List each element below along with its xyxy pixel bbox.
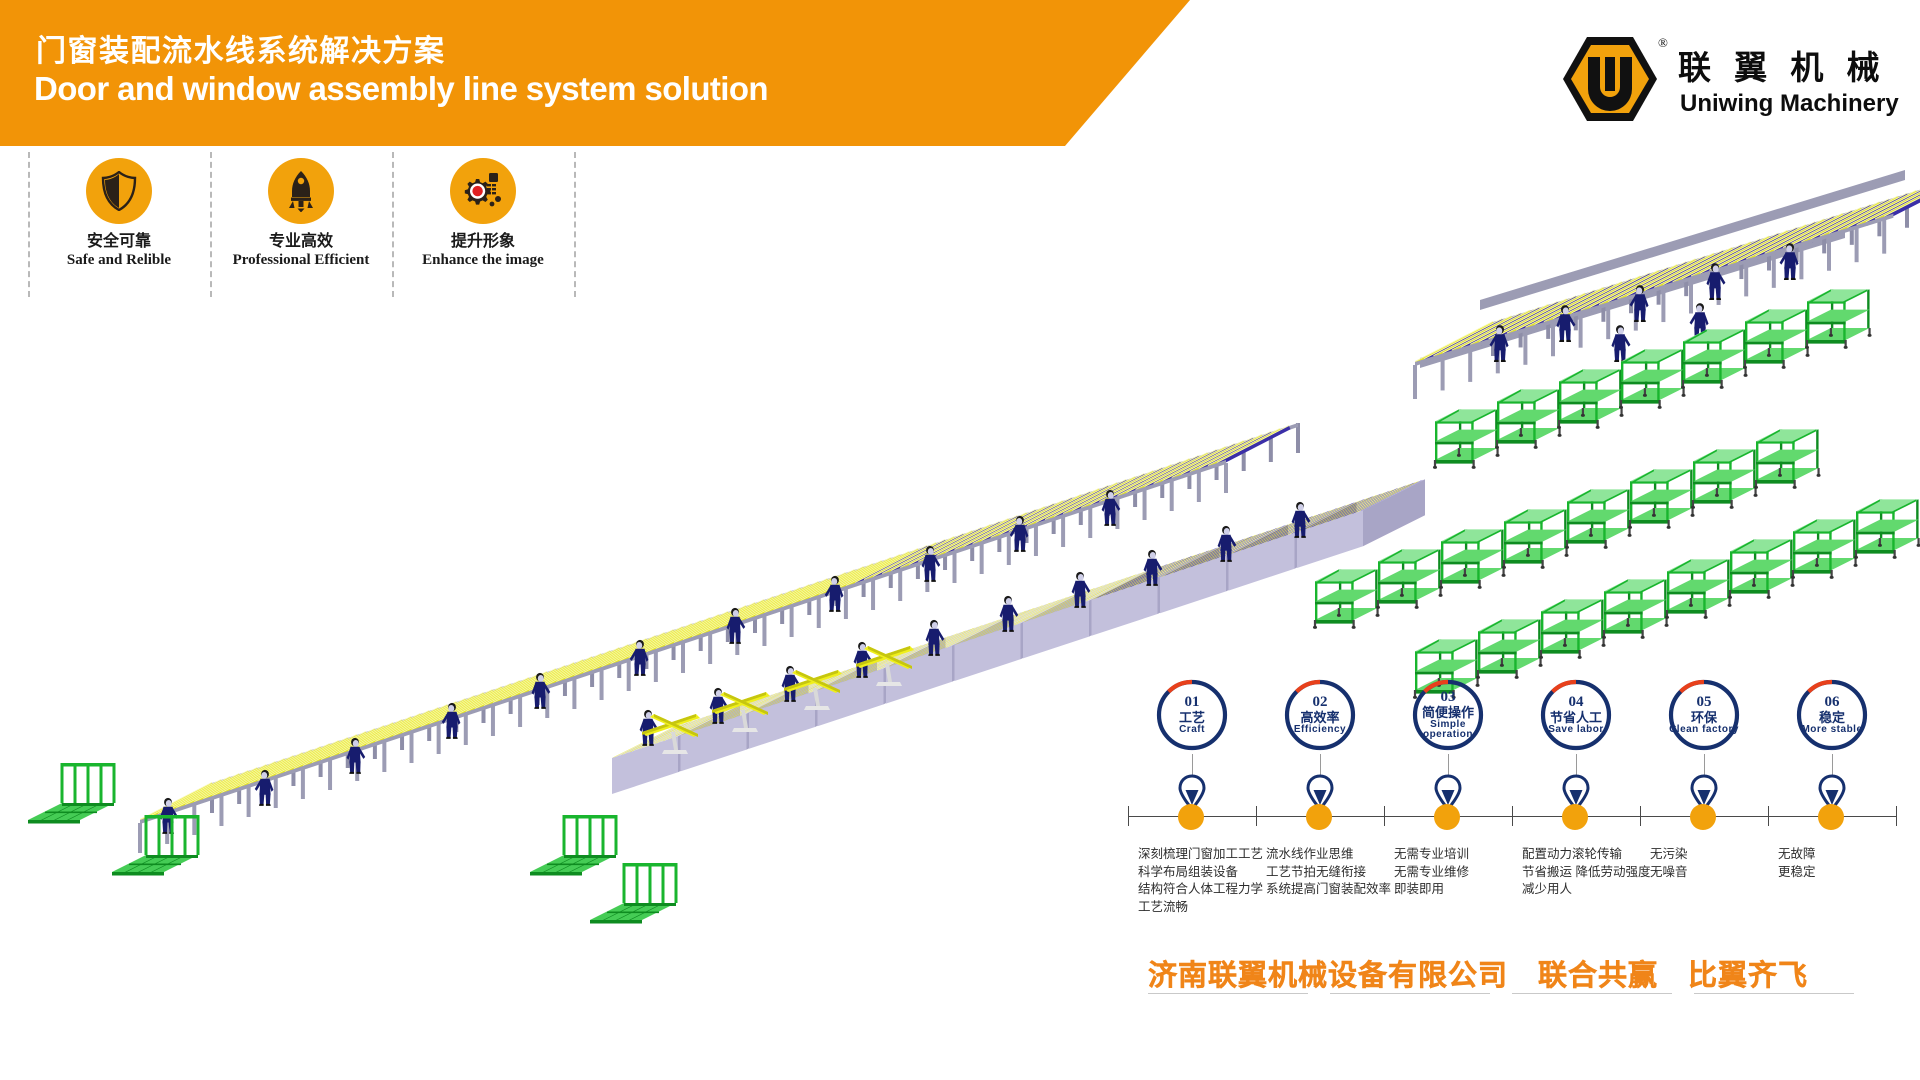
material-cart-row-bottom xyxy=(1728,539,1795,598)
timeline-label-cn: 环保 xyxy=(1691,710,1717,725)
timeline-desc-line: 无需专业维修 xyxy=(1394,864,1469,882)
timeline-label-en: Clean factory xyxy=(1669,725,1739,736)
timeline-tick xyxy=(1896,806,1897,826)
company-slogan: 济南联翼机械设备有限公司 联合共赢 比翼齐飞 xyxy=(1148,952,1908,998)
uniwing-hexagon-u-logo-icon xyxy=(1560,35,1660,123)
timeline-ring-icon: 02 高效率 Efficiency xyxy=(1283,678,1357,752)
timeline-stem xyxy=(1832,754,1833,776)
timeline-desc-line: 工艺流畅 xyxy=(1138,899,1263,917)
material-cart-row-middle xyxy=(1691,449,1758,508)
timeline-ring-icon: 06 稳定 More stable xyxy=(1795,678,1869,752)
slogan-rule xyxy=(1330,993,1490,994)
timeline-number: 01 xyxy=(1185,695,1200,710)
timeline-desc-02: 流水线作业思维工艺节拍无缝衔接系统提高门窗装配效率 xyxy=(1266,846,1391,899)
timeline-tick xyxy=(1640,806,1641,826)
material-cart-row-top xyxy=(1743,309,1810,368)
material-cart-row-top xyxy=(1495,389,1562,448)
timeline-desc-line: 无污染 xyxy=(1650,846,1688,864)
slogan-rule xyxy=(1694,993,1854,994)
worker-figure xyxy=(1611,325,1630,362)
timeline-node-02[interactable]: 02 高效率 Efficiency xyxy=(1260,678,1380,752)
timeline-label-en: Efficiency xyxy=(1294,725,1346,736)
material-cart-row-top xyxy=(1433,409,1500,468)
page-title-en: Door and window assembly line system sol… xyxy=(34,70,768,108)
timeline-desc-line: 科学布局组装设备 xyxy=(1138,864,1263,882)
material-cart-row-middle xyxy=(1313,569,1380,628)
timeline-desc-05: 无污染无噪音 xyxy=(1650,846,1688,881)
loading-rack-left xyxy=(530,815,618,876)
timeline-dot xyxy=(1306,804,1332,830)
timeline-tick xyxy=(1384,806,1385,826)
material-cart-row-bottom xyxy=(1791,519,1858,578)
timeline-number: 06 xyxy=(1825,695,1840,710)
timeline-number: 04 xyxy=(1569,695,1584,710)
timeline-dot xyxy=(1178,804,1204,830)
timeline-tick xyxy=(1256,806,1257,826)
loading-rack-left xyxy=(28,763,116,824)
material-cart-row-middle xyxy=(1754,429,1821,488)
timeline-desc-line: 结构符合人体工程力学 xyxy=(1138,881,1263,899)
timeline-node-03[interactable]: 03 简便操作 Simple operation xyxy=(1388,678,1508,752)
company-slogan-text: 济南联翼机械设备有限公司 联合共赢 比翼齐飞 xyxy=(1148,952,1808,994)
logo-name-cn: 联 翼 机 械 xyxy=(1678,41,1887,89)
material-cart-row-middle xyxy=(1439,529,1506,588)
timeline-desc-line: 节省搬运 降低劳动强度 xyxy=(1522,864,1650,882)
logo-name-en: Uniwing Machinery xyxy=(1680,90,1899,118)
timeline-dot xyxy=(1434,804,1460,830)
timeline-ring-icon: 05 环保 Clean factory xyxy=(1667,678,1741,752)
timeline-desc-06: 无故障更稳定 xyxy=(1778,846,1816,881)
timeline-desc-line: 流水线作业思维 xyxy=(1266,846,1391,864)
timeline-dot xyxy=(1562,804,1588,830)
slogan-rule xyxy=(1148,993,1308,994)
poster-page: 门窗装配流水线系统解决方案 Door and window assembly l… xyxy=(0,0,1920,1080)
material-cart-row-top xyxy=(1619,349,1686,408)
timeline-number: 03 xyxy=(1441,690,1456,705)
timeline-label-en: Save labor xyxy=(1548,725,1604,736)
timeline-desc-line: 无噪音 xyxy=(1650,864,1688,882)
timeline-label-cn: 高效率 xyxy=(1300,710,1339,725)
loading-rack-left xyxy=(590,863,678,924)
timeline-desc-line: 减少用人 xyxy=(1522,881,1650,899)
timeline-desc-line: 工艺节拍无缝衔接 xyxy=(1266,864,1391,882)
material-cart-row-top xyxy=(1681,329,1748,388)
gravity-roller-line-top-right xyxy=(1413,174,1920,399)
material-cart-row-middle xyxy=(1628,469,1695,528)
timeline-label-cn: 节省人工 xyxy=(1550,710,1602,725)
material-cart-row-middle xyxy=(1565,489,1632,548)
timeline-desc-line: 无故障 xyxy=(1778,846,1816,864)
page-title-cn: 门窗装配流水线系统解决方案 xyxy=(36,26,446,70)
timeline-node-05[interactable]: 05 环保 Clean factory xyxy=(1644,678,1764,752)
timeline-label-en: More stable xyxy=(1801,725,1862,736)
timeline-label-cn: 稳定 xyxy=(1819,710,1845,725)
timeline-tick xyxy=(1768,806,1769,826)
timeline-tick xyxy=(1128,806,1129,826)
slogan-rule xyxy=(1512,993,1672,994)
material-cart-row-middle xyxy=(1502,509,1569,568)
material-cart-row-bottom xyxy=(1476,619,1543,678)
material-cart-row-bottom xyxy=(1665,559,1732,618)
timeline-dot xyxy=(1690,804,1716,830)
brand-logo: ® 联 翼 机 械 Uniwing Machinery xyxy=(1560,33,1900,125)
timeline-tick xyxy=(1512,806,1513,826)
timeline-desc-line: 系统提高门窗装配效率 xyxy=(1266,881,1391,899)
timeline-stem xyxy=(1576,754,1577,776)
timeline-stem xyxy=(1320,754,1321,776)
material-cart-row-bottom xyxy=(1602,579,1669,638)
timeline-desc-line: 深刻梳理门窗加工工艺 xyxy=(1138,846,1263,864)
timeline-stem xyxy=(1192,754,1193,776)
timeline-desc-line: 更稳定 xyxy=(1778,864,1816,882)
timeline-number: 05 xyxy=(1697,695,1712,710)
material-cart-row-top xyxy=(1805,289,1872,348)
timeline-label-en: Simple operation xyxy=(1411,720,1485,741)
material-cart-row-middle xyxy=(1376,549,1443,608)
timeline-desc-03: 无需专业培训无需专业维修即装即用 xyxy=(1394,846,1469,899)
benefits-timeline: 01 工艺 Craft 02 xyxy=(1120,678,1910,978)
timeline-desc-01: 深刻梳理门窗加工工艺科学布局组装设备结构符合人体工程力学工艺流畅 xyxy=(1138,846,1263,916)
timeline-label-en: Craft xyxy=(1179,725,1205,736)
timeline-label-cn: 工艺 xyxy=(1179,710,1205,725)
timeline-ring-icon: 03 简便操作 Simple operation xyxy=(1411,678,1485,752)
timeline-desc-line: 即装即用 xyxy=(1394,881,1469,899)
timeline-desc-line: 配置动力滚轮传输 xyxy=(1522,846,1650,864)
timeline-desc-04: 配置动力滚轮传输节省搬运 降低劳动强度减少用人 xyxy=(1522,846,1650,899)
timeline-number: 02 xyxy=(1313,695,1328,710)
timeline-desc-line: 无需专业培训 xyxy=(1394,846,1469,864)
timeline-dot xyxy=(1818,804,1844,830)
loading-rack-left xyxy=(112,815,200,876)
timeline-stem xyxy=(1704,754,1705,776)
material-cart-row-top xyxy=(1557,369,1624,428)
timeline-stem xyxy=(1448,754,1449,776)
registered-trademark-icon: ® xyxy=(1658,35,1668,51)
timeline-node-06[interactable]: 06 稳定 More stable xyxy=(1772,678,1892,752)
material-cart-row-bottom xyxy=(1854,499,1920,558)
material-cart-row-bottom xyxy=(1539,599,1606,658)
timeline-node-01[interactable]: 01 工艺 Craft xyxy=(1132,678,1252,752)
timeline-node-04[interactable]: 04 节省人工 Save labor xyxy=(1516,678,1636,752)
timeline-ring-icon: 04 节省人工 Save labor xyxy=(1539,678,1613,752)
timeline-ring-icon: 01 工艺 Craft xyxy=(1155,678,1229,752)
timeline-label-cn: 简便操作 xyxy=(1422,705,1474,720)
